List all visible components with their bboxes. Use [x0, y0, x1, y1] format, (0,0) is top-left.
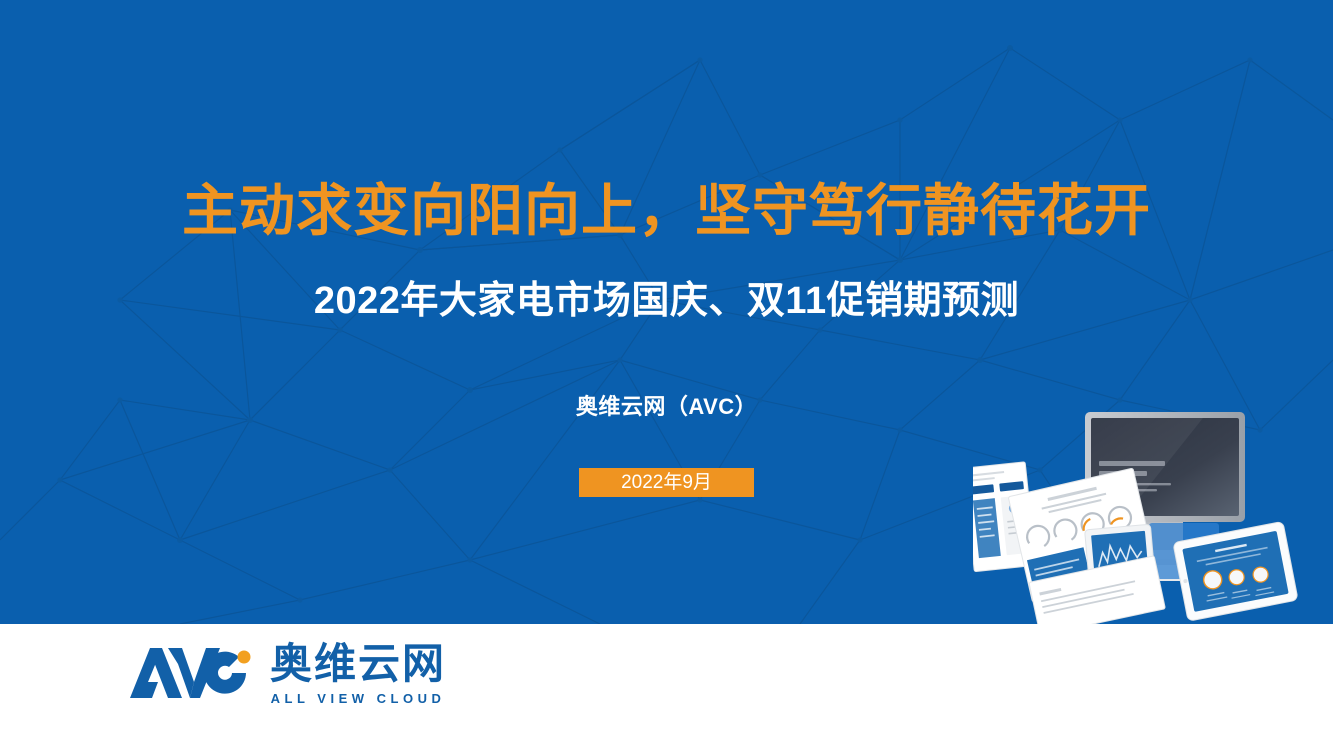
- hero-banner: 主动求变向阳向上，坚守笃行静待花开 2022年大家电市场国庆、双11促销期预测 …: [0, 0, 1333, 624]
- footer-bar: 奥维云网 ALL VIEW CLOUD: [0, 624, 1333, 750]
- avc-logo-wordmark: 奥维云网 ALL VIEW CLOUD: [270, 640, 446, 708]
- logo-tagline: ALL VIEW CLOUD: [271, 690, 446, 708]
- page-subtitle: 2022年大家电市场国庆、双11促销期预测: [0, 274, 1333, 328]
- page-title: 主动求变向阳向上，坚守笃行静待花开: [0, 174, 1333, 248]
- avc-logo-icon: [128, 644, 256, 700]
- tablet-landscape: [1173, 521, 1298, 621]
- document-card-3: [1029, 556, 1165, 624]
- report-cover-slide: 主动求变向阳向上，坚守笃行静待花开 2022年大家电市场国庆、双11促销期预测 …: [0, 0, 1333, 750]
- date-badge-container: 2022年9月: [0, 468, 1333, 497]
- logo-chinese-name: 奥维云网: [270, 640, 446, 688]
- tablet-portrait: [1085, 524, 1156, 592]
- date-badge: 2022年9月: [579, 468, 754, 497]
- device-collage-illustration: [973, 409, 1333, 624]
- organization-name: 奥维云网（AVC）: [0, 392, 1333, 422]
- avc-logo: 奥维云网 ALL VIEW CLOUD: [128, 640, 446, 708]
